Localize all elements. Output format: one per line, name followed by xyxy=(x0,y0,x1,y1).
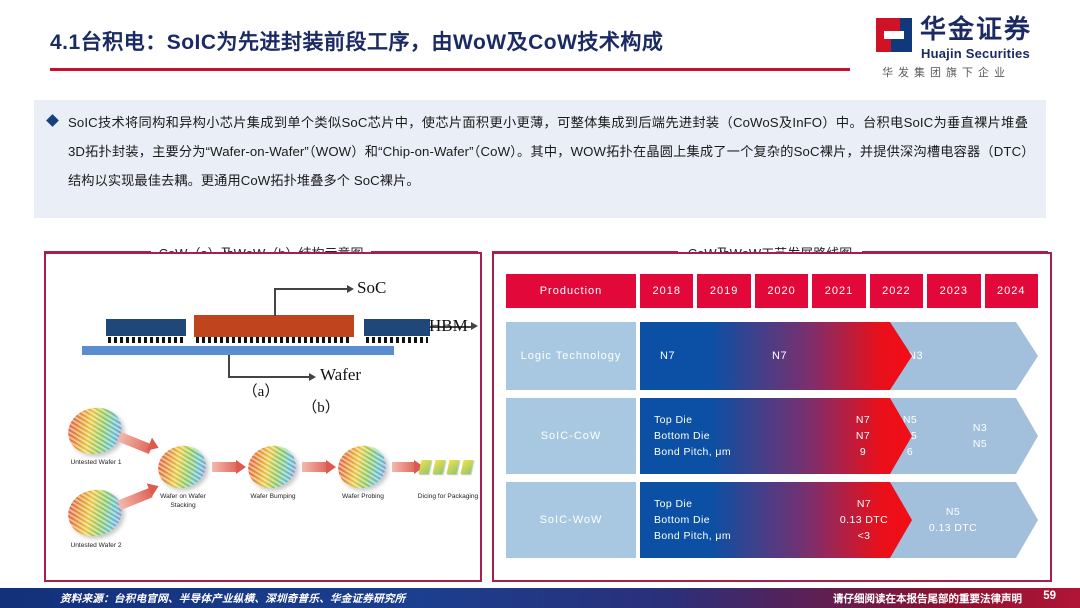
label-untested-wafer-2: Untested Wafer 2 xyxy=(56,541,136,550)
values-soic-wow-col1: N7 0.13 DTC <3 xyxy=(826,482,902,558)
hbm-die-right-shape xyxy=(364,319,430,336)
label-soc: SoC xyxy=(357,278,386,298)
label-step-probing: Wafer Probing xyxy=(332,492,394,501)
logo-english-name: Huajin Securities xyxy=(921,46,1030,61)
band-gradient-logic: N7 N7 xyxy=(640,322,912,390)
flow-arrow-3-body xyxy=(392,462,416,472)
metric-cow-bond-pitch: Bond Pitch, μm xyxy=(654,444,731,460)
roadmap-row-logic-technology: Logic Technology N3 N7 N7 xyxy=(506,322,1038,390)
metrics-soic-wow: Top Die Bottom Die Bond Pitch, μm xyxy=(654,482,731,558)
header-cell-2019: 2019 xyxy=(697,274,750,308)
value-wow-topdie-n5: N5 xyxy=(918,504,988,520)
metric-wow-top-die: Top Die xyxy=(654,496,731,512)
wafer-leader-horizontal xyxy=(228,376,310,378)
header-cell-2024: 2024 xyxy=(985,274,1038,308)
wafer-untested-2-shape xyxy=(63,484,127,542)
value-logic-n7-b: N7 xyxy=(772,350,787,362)
bump-row-center xyxy=(196,337,352,343)
figure-a-cross-section: SoC HBM Wafer xyxy=(46,260,476,390)
hbm-die-left-shape xyxy=(106,319,186,336)
header-cell-2018: 2018 xyxy=(640,274,693,308)
page-number: 59 xyxy=(1043,590,1056,602)
merge-arrow-1-head-icon xyxy=(147,438,162,455)
band-gradient-soic-wow: Top Die Bottom Die Bond Pitch, μm N7 0.1… xyxy=(640,482,912,558)
roadmap-year-header: Production 2018 2019 2020 2021 2022 2023… xyxy=(506,274,1038,308)
left-figure-panel: SoC HBM Wafer （a） Untested Wafer 1 Untes… xyxy=(44,252,482,582)
diced-chips-shape xyxy=(420,460,476,476)
flow-arrow-1-body xyxy=(212,462,238,472)
value-wow-topdie-n7: N7 xyxy=(826,496,902,512)
page-title: 4.1台积电：SoIC为先进封装前段工序，由WoW及CoW技术构成 xyxy=(50,26,663,56)
label-step-dicing: Dicing for Packaging xyxy=(408,492,488,501)
label-step-bumping: Wafer Bumping xyxy=(242,492,304,501)
label-untested-wafer-1: Untested Wafer 1 xyxy=(56,458,136,467)
row-label-soic-wow: SoIC-WoW xyxy=(506,482,636,558)
metric-cow-bottom-die: Bottom Die xyxy=(654,428,731,444)
merge-arrow-2-body xyxy=(117,488,152,510)
flow-arrow-1-head-icon xyxy=(236,460,246,474)
row-track-logic-technology: N3 N7 N7 xyxy=(640,322,1038,390)
value-cow-bottomdie-n5b: N5 xyxy=(958,436,1002,452)
value-cow-bottomdie-n7: N7 xyxy=(846,428,880,444)
band-gradient-soic-cow: Top Die Bottom Die Bond Pitch, μm N7 N7 … xyxy=(640,398,912,474)
label-step-stacking: Wafer on Wafer Stacking xyxy=(152,492,214,510)
roadmap-panel: Production 2018 2019 2020 2021 2022 2023… xyxy=(492,252,1052,582)
value-wow-bottomdie-dtc: 0.13 DTC xyxy=(826,512,902,528)
slide-footer: 资料来源：台积电官网、半导体产业纵横、深圳奇普乐、华金证券研究所 请仔细阅读在本… xyxy=(0,588,1080,608)
huajin-logo-icon xyxy=(876,18,912,52)
values-soic-cow-col1: N7 N7 9 xyxy=(846,398,880,474)
values-soic-cow-col3: N3 N5 xyxy=(958,398,1002,474)
header-cell-2020: 2020 xyxy=(755,274,808,308)
wafer-step-2-shape xyxy=(244,441,301,493)
slide-header: 4.1台积电：SoIC为先进封装前段工序，由WoW及CoW技术构成 华金证券 H… xyxy=(0,0,1080,88)
soc-arrow-icon xyxy=(347,285,354,293)
metric-cow-top-die: Top Die xyxy=(654,412,731,428)
figure-b-caption: （b） xyxy=(106,396,536,417)
soc-die-shape xyxy=(194,315,354,337)
hbm-arrow-icon xyxy=(471,322,478,330)
metric-wow-bond-pitch: Bond Pitch, μm xyxy=(654,528,731,544)
roadmap-row-soic-wow: SoIC-WoW N5 0.13 DTC Top Die Bottom Die … xyxy=(506,482,1038,558)
row-track-soic-cow: N5 N5 6 N3 N5 Top Die Bottom Die Bond Pi… xyxy=(640,398,1038,474)
roadmap-row-soic-cow: SoIC-CoW N5 N5 6 N3 N5 Top Die Bottom Di… xyxy=(506,398,1038,474)
flow-arrow-2-body xyxy=(302,462,328,472)
header-cell-2023: 2023 xyxy=(927,274,980,308)
header-cell-2021: 2021 xyxy=(812,274,865,308)
logo-chinese-name: 华金证券 xyxy=(920,14,1032,44)
summary-paragraph: SoIC技术将同构和异构小芯片集成到单个类似SoC芯片中，使芯片面积更小更薄，可… xyxy=(68,108,1028,195)
summary-textbox: SoIC技术将同构和异构小芯片集成到单个类似SoC芯片中，使芯片面积更小更薄，可… xyxy=(34,100,1046,218)
wafer-substrate-shape xyxy=(82,346,394,355)
header-cell-2022: 2022 xyxy=(870,274,923,308)
row-label-logic-technology: Logic Technology xyxy=(506,322,636,390)
header-cell-production: Production xyxy=(506,274,636,308)
value-cow-topdie-n3: N3 xyxy=(958,420,1002,436)
value-cow-topdie-n7: N7 xyxy=(846,412,880,428)
logo-subtitle: 华发集团旗下企业 xyxy=(882,64,1010,80)
bump-row-left xyxy=(108,337,184,343)
values-soic-wow-col2: N5 0.13 DTC xyxy=(918,482,988,558)
source-text: 资料来源：台积电官网、半导体产业纵横、深圳奇普乐、华金证券研究所 xyxy=(60,591,406,606)
value-wow-bottomdie-dtc2: 0.13 DTC xyxy=(918,520,988,536)
flow-arrow-2-head-icon xyxy=(326,460,336,474)
value-logic-n7-a: N7 xyxy=(660,350,675,362)
row-label-soic-cow: SoIC-CoW xyxy=(506,398,636,474)
metrics-soic-cow: Top Die Bottom Die Bond Pitch, μm xyxy=(654,398,731,474)
bump-row-right xyxy=(366,337,428,343)
value-wow-pitch-lt3: <3 xyxy=(826,528,902,544)
row-track-soic-wow: N5 0.13 DTC Top Die Bottom Die Bond Pitc… xyxy=(640,482,1038,558)
wafer-step-1-shape xyxy=(154,441,211,493)
title-underline xyxy=(50,68,850,71)
soc-leader-horizontal xyxy=(274,288,348,290)
label-hbm: HBM xyxy=(429,316,468,336)
figure-b-process-flow: Untested Wafer 1 Untested Wafer 2 Wafer … xyxy=(46,402,476,574)
metric-wow-bottom-die: Bottom Die xyxy=(654,512,731,528)
wafer-step-3-shape xyxy=(334,441,391,493)
disclaimer-text: 请仔细阅读在本报告尾部的重要法律声明 xyxy=(833,591,1022,606)
wafer-leader-vertical xyxy=(228,355,230,378)
value-cow-pitch-9: 9 xyxy=(846,444,880,460)
company-logo: 华金证券 Huajin Securities 华发集团旗下企业 xyxy=(876,14,1072,80)
diamond-bullet-icon xyxy=(46,114,59,127)
soc-leader-vertical xyxy=(274,288,276,316)
